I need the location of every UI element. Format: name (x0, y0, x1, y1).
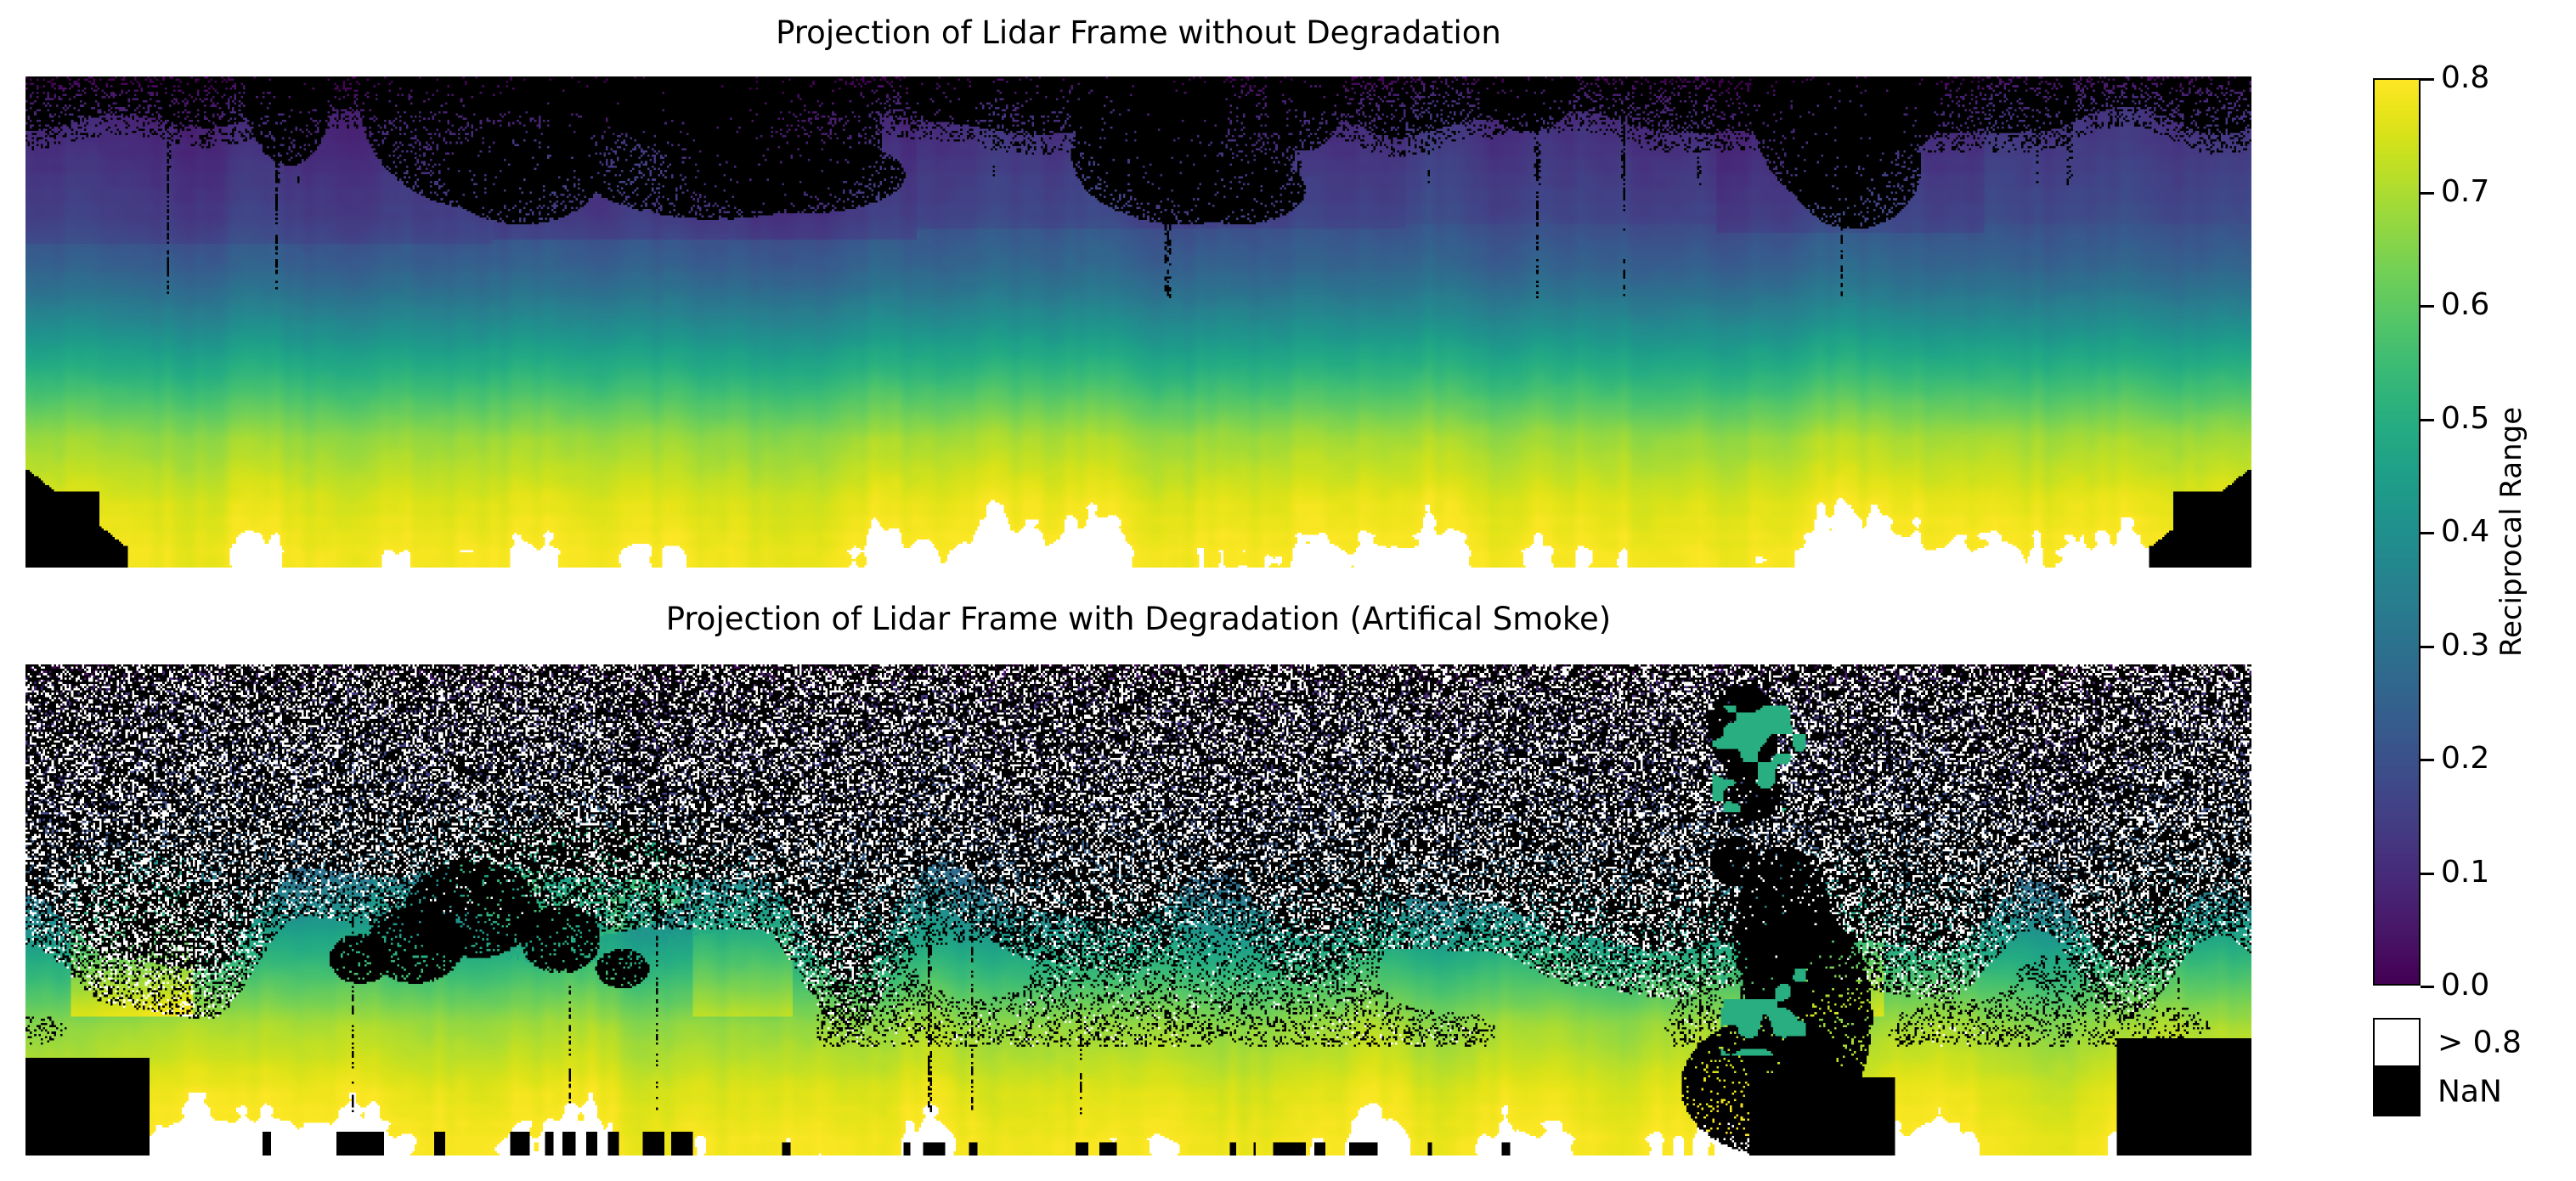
legend-label-nan: NaN (2438, 1075, 2502, 1110)
colorbar-tick-0.0 (2421, 986, 2434, 988)
colorbar-viridis-ramp (2375, 80, 2419, 984)
legend-item-nan: NaN (2373, 1067, 2576, 1116)
colorbar-ticklabel-0.5: 0.5 (2441, 404, 2489, 434)
lidar-clean-image (25, 76, 2251, 568)
colorbar-axis-label: Reciprocal Range (2494, 407, 2528, 657)
colorbar-tick-0.6 (2421, 305, 2434, 308)
colorbar-tick-0.7 (2421, 192, 2434, 195)
colorbar-gradient (2373, 78, 2421, 986)
colorbar-ticklabel-0.1: 0.1 (2441, 857, 2489, 888)
lidar-range-image-without-degradation (25, 76, 2251, 568)
panel-2-title: Projection of Lidar Frame with Degradati… (25, 603, 2251, 635)
colorbar-tick-0.3 (2421, 646, 2434, 648)
lidar-degraded-image (25, 664, 2251, 1156)
colorbar: 0.00.10.20.30.40.50.60.70.8 (2373, 78, 2421, 986)
colorbar-tick-0.4 (2421, 532, 2434, 534)
colorbar-tick-0.5 (2421, 419, 2434, 421)
legend-swatch-nan (2373, 1067, 2421, 1116)
colorbar-ticklabel-0.8: 0.8 (2441, 63, 2489, 93)
colorbar-tick-0.2 (2421, 759, 2434, 761)
colorbar-ticklabel-0.7: 0.7 (2441, 177, 2489, 207)
colorbar-tick-0.8 (2421, 78, 2434, 81)
colorbar-ticklabel-0.2: 0.2 (2441, 743, 2489, 774)
figure-canvas: Projection of Lidar Frame without Degrad… (0, 0, 2576, 1181)
colorbar-ticklabel-0.6: 0.6 (2441, 290, 2489, 320)
colorbar-ticklabel-0.4: 0.4 (2441, 517, 2489, 547)
legend-item-over: > 0.8 (2373, 1018, 2576, 1067)
legend-label-over: > 0.8 (2438, 1026, 2522, 1060)
colorbar-ticklabel-0.0: 0.0 (2441, 970, 2489, 1001)
colorbar-tick-0.1 (2421, 873, 2434, 875)
special-value-legend: > 0.8 NaN (2373, 1018, 2576, 1116)
lidar-range-image-with-degradation (25, 664, 2251, 1156)
legend-swatch-over (2373, 1018, 2421, 1067)
colorbar-ticklabel-0.3: 0.3 (2441, 630, 2489, 661)
panel-1-title: Projection of Lidar Frame without Degrad… (25, 17, 2251, 48)
